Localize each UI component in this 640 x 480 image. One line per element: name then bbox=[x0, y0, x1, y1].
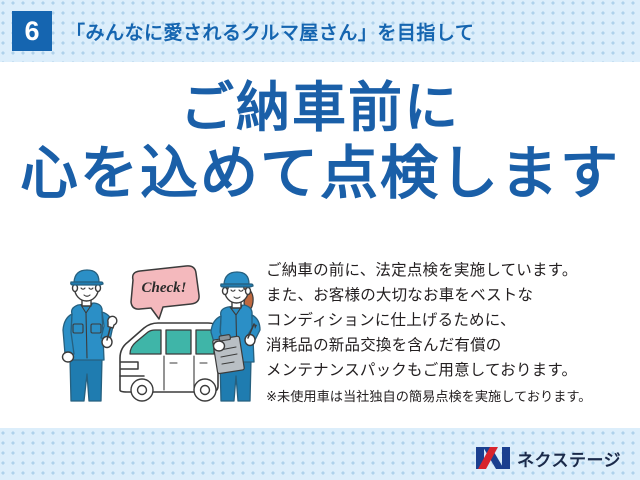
clipboard-icon bbox=[213, 334, 245, 373]
check-bubble-label: Check! bbox=[142, 280, 187, 296]
body-copy-line: ご納車の前に、法定点検を実施しています。 bbox=[266, 258, 632, 283]
check-speech-bubble: Check! bbox=[131, 266, 199, 319]
nextage-logo: ネクステージ bbox=[476, 445, 621, 471]
body-copy-line: コンディションに仕上げるために、 bbox=[266, 308, 632, 333]
headline-line-2: 心を込めて点検します bbox=[0, 143, 640, 204]
section-number-badge: 6 bbox=[12, 11, 52, 51]
mechanics-illustration: .ln { fill:none; stroke:#3b3b3b; stroke-… bbox=[58, 262, 263, 402]
body-copy-line: 消耗品の新品交換を含んだ有償の bbox=[266, 333, 632, 358]
page-title: ご納車前に 心を込めて点検します bbox=[0, 80, 640, 205]
mechanics-illustration-svg: .ln { fill:none; stroke:#3b3b3b; stroke-… bbox=[58, 262, 263, 402]
headline-line-1: ご納車前に bbox=[0, 80, 640, 137]
header: 6 「みんなに愛されるクルマ屋さん」を目指して bbox=[0, 0, 640, 62]
van-icon bbox=[120, 323, 218, 401]
header-title: 「みんなに愛されるクルマ屋さん」を目指して bbox=[66, 18, 474, 45]
mechanic-left-figure bbox=[63, 270, 117, 401]
nextage-n-logo-icon bbox=[476, 447, 510, 469]
body-copy-line: メンテナンスパックもご用意しております。 bbox=[266, 358, 632, 383]
content-panel: ご納車前に 心を込めて点検します ご納車の前に、法定点検を実施しています。 また… bbox=[0, 62, 640, 428]
body-copy-note: ※未使用車は当社独自の簡易点検を実施しております。 bbox=[266, 387, 632, 407]
promo-banner: 6 「みんなに愛されるクルマ屋さん」を目指して ご納車前に 心を込めて点検します… bbox=[0, 0, 640, 480]
body-copy-line: また、お客様の大切なお車をベストな bbox=[266, 283, 632, 308]
brand-name: ネクステージ bbox=[517, 446, 621, 471]
body-copy: ご納車の前に、法定点検を実施しています。 また、お客様の大切なお車をベストな コ… bbox=[266, 258, 632, 407]
